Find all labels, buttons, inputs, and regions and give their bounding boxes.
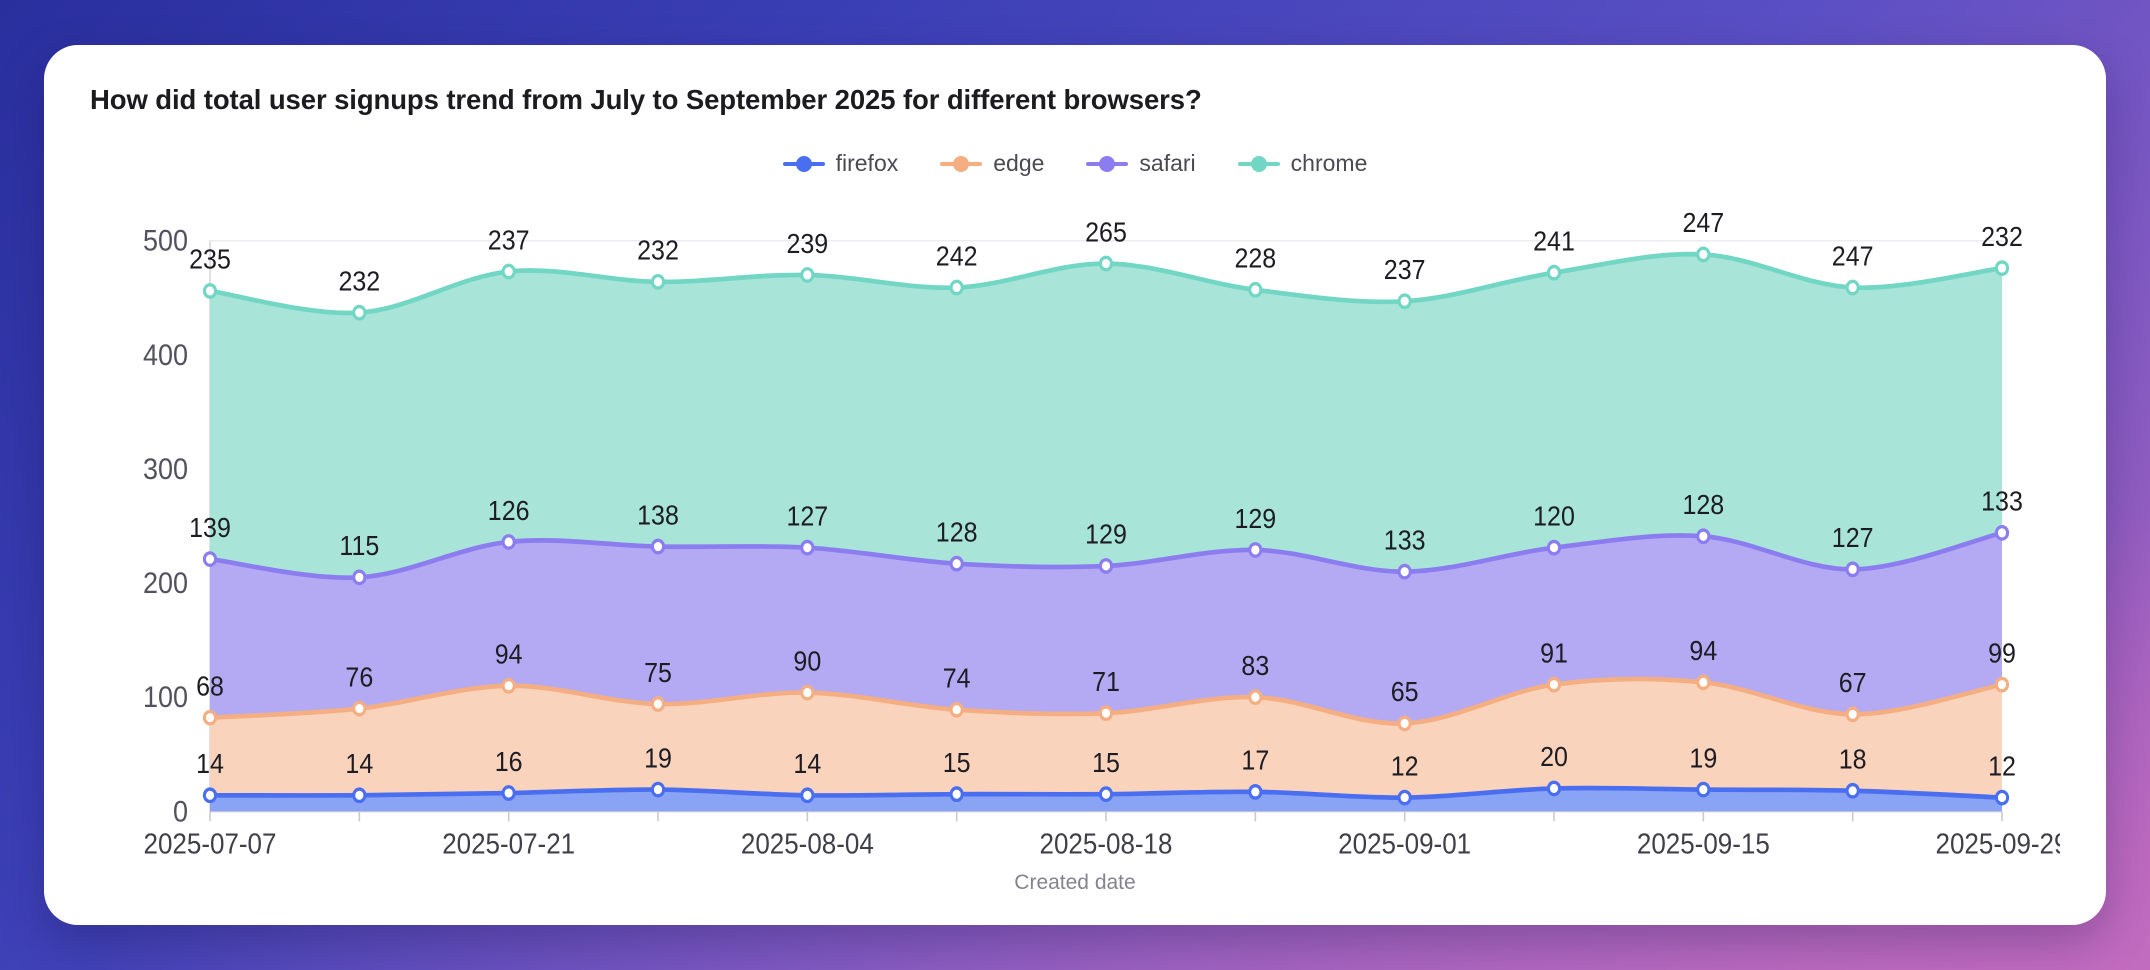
data-point-firefox[interactable] <box>1548 782 1559 794</box>
data-label-firefox: 14 <box>793 748 821 780</box>
data-label-firefox: 12 <box>1391 750 1419 782</box>
data-point-firefox[interactable] <box>802 789 813 801</box>
data-label-firefox: 15 <box>1092 747 1120 779</box>
data-label-safari: 115 <box>339 530 379 562</box>
legend-dot <box>953 156 969 172</box>
data-point-edge[interactable] <box>1698 676 1709 688</box>
data-point-chrome[interactable] <box>652 276 663 288</box>
data-point-firefox[interactable] <box>1399 791 1410 803</box>
data-point-edge[interactable] <box>652 698 663 710</box>
data-label-chrome: 237 <box>488 224 530 256</box>
legend-label-chrome: chrome <box>1291 150 1368 177</box>
line-dot-marker-icon <box>940 156 982 172</box>
line-dot-marker-icon <box>1238 156 1280 172</box>
data-label-chrome: 247 <box>1832 240 1874 272</box>
data-label-safari: 129 <box>1085 519 1127 551</box>
data-point-firefox[interactable] <box>1698 783 1709 795</box>
data-label-safari: 138 <box>637 499 679 531</box>
data-point-edge[interactable] <box>503 680 514 692</box>
data-point-edge[interactable] <box>1548 678 1559 690</box>
data-point-safari[interactable] <box>354 571 365 583</box>
data-point-firefox[interactable] <box>503 787 514 799</box>
data-label-chrome: 232 <box>637 234 679 266</box>
data-label-safari: 120 <box>1533 500 1575 532</box>
data-point-chrome[interactable] <box>802 269 813 281</box>
data-point-chrome[interactable] <box>1996 262 2007 274</box>
data-label-safari: 128 <box>1682 489 1724 521</box>
data-point-firefox[interactable] <box>354 789 365 801</box>
data-point-safari[interactable] <box>652 540 663 552</box>
legend-item-edge[interactable]: edge <box>940 150 1044 177</box>
data-label-chrome: 232 <box>1981 221 2023 253</box>
data-label-edge: 99 <box>1988 637 2016 669</box>
data-point-chrome[interactable] <box>1100 257 1111 269</box>
data-label-safari: 129 <box>1234 503 1276 535</box>
data-label-safari: 133 <box>1981 485 2023 517</box>
legend-label-safari: safari <box>1139 150 1195 177</box>
data-label-chrome: 247 <box>1682 207 1724 239</box>
data-label-chrome: 228 <box>1234 242 1276 274</box>
data-point-firefox[interactable] <box>1250 786 1261 798</box>
data-label-firefox: 18 <box>1839 743 1867 775</box>
data-point-safari[interactable] <box>1548 541 1559 553</box>
data-point-chrome[interactable] <box>354 306 365 318</box>
data-point-chrome[interactable] <box>1399 295 1410 307</box>
data-label-firefox: 19 <box>1689 742 1717 774</box>
data-point-firefox[interactable] <box>1847 785 1858 797</box>
data-label-safari: 128 <box>936 516 978 548</box>
data-point-safari[interactable] <box>503 536 514 548</box>
data-label-edge: 76 <box>345 661 373 693</box>
legend-dot <box>1251 156 1267 172</box>
y-axis-tick-label: 100 <box>143 681 188 715</box>
data-point-firefox[interactable] <box>204 789 215 801</box>
data-label-chrome: 242 <box>936 240 978 272</box>
data-point-chrome[interactable] <box>1847 281 1858 293</box>
x-axis-tick-label: 2025-08-18 <box>1040 827 1173 860</box>
data-label-firefox: 12 <box>1988 750 2016 782</box>
legend-label-firefox: firefox <box>836 150 899 177</box>
data-label-firefox: 20 <box>1540 741 1568 773</box>
data-label-chrome: 239 <box>786 228 828 260</box>
data-point-firefox[interactable] <box>951 788 962 800</box>
y-axis-tick-label: 400 <box>143 339 188 373</box>
data-point-edge[interactable] <box>1100 707 1111 719</box>
data-point-chrome[interactable] <box>1698 248 1709 260</box>
data-label-firefox: 15 <box>943 747 971 779</box>
x-axis-tick-label: 2025-09-15 <box>1637 827 1770 860</box>
data-point-safari[interactable] <box>1100 560 1111 572</box>
data-label-firefox: 14 <box>345 748 373 780</box>
x-axis-tick-label: 2025-09-01 <box>1338 827 1471 860</box>
line-dot-marker-icon <box>783 156 825 172</box>
page-title: How did total user signups trend from Ju… <box>90 83 2060 116</box>
legend-label-edge: edge <box>993 150 1044 177</box>
line-dot-marker-icon <box>1086 156 1128 172</box>
data-label-chrome: 241 <box>1533 225 1575 257</box>
x-axis-title: Created date <box>90 871 2060 899</box>
y-axis-tick-label: 500 <box>143 224 188 258</box>
data-label-edge: 68 <box>196 670 224 702</box>
data-label-safari: 139 <box>189 512 231 544</box>
data-point-chrome[interactable] <box>503 265 514 277</box>
data-point-safari[interactable] <box>1847 563 1858 575</box>
data-label-chrome: 265 <box>1085 216 1127 248</box>
data-point-firefox[interactable] <box>652 783 663 795</box>
x-axis-tick-label: 2025-08-04 <box>741 827 874 860</box>
data-point-chrome[interactable] <box>1250 284 1261 296</box>
data-label-chrome: 232 <box>338 265 380 297</box>
data-point-safari[interactable] <box>1399 565 1410 577</box>
data-point-safari[interactable] <box>802 541 813 553</box>
data-label-firefox: 19 <box>644 742 672 774</box>
data-point-chrome[interactable] <box>204 285 215 297</box>
legend-item-safari[interactable]: safari <box>1086 150 1195 177</box>
data-point-safari[interactable] <box>1698 530 1709 542</box>
stacked-area-chart[interactable]: 0100200300400500141416191415151712201918… <box>90 203 2060 869</box>
data-label-safari: 133 <box>1384 524 1426 556</box>
x-axis-tick-label: 2025-09-29 <box>1936 827 2060 860</box>
legend-item-firefox[interactable]: firefox <box>783 150 899 177</box>
data-point-edge[interactable] <box>204 711 215 723</box>
legend-dot <box>796 156 812 172</box>
data-point-edge[interactable] <box>1250 691 1261 703</box>
data-label-edge: 94 <box>495 638 523 670</box>
data-label-edge: 75 <box>644 657 672 689</box>
legend-dot <box>1099 156 1115 172</box>
data-label-chrome: 235 <box>189 244 231 276</box>
data-point-firefox[interactable] <box>1100 788 1111 800</box>
y-axis-tick-label: 200 <box>143 567 188 601</box>
data-label-safari: 126 <box>488 495 530 527</box>
data-point-safari[interactable] <box>1996 527 2007 539</box>
data-point-edge[interactable] <box>354 702 365 714</box>
data-label-edge: 74 <box>943 662 971 694</box>
data-label-edge: 91 <box>1540 637 1568 669</box>
data-point-safari[interactable] <box>951 557 962 569</box>
data-point-firefox[interactable] <box>1996 791 2007 803</box>
data-label-firefox: 16 <box>495 746 523 778</box>
data-label-safari: 127 <box>1832 522 1874 554</box>
data-point-edge[interactable] <box>1399 717 1410 729</box>
chart-legend: firefox edge safari chrome <box>90 150 2060 177</box>
data-point-edge[interactable] <box>1847 708 1858 720</box>
chart-card: How did total user signups trend from Ju… <box>44 45 2106 925</box>
data-label-edge: 94 <box>1689 635 1717 667</box>
y-axis-tick-label: 0 <box>173 795 188 829</box>
data-point-safari[interactable] <box>204 553 215 565</box>
data-point-edge[interactable] <box>951 704 962 716</box>
x-axis-tick-label: 2025-07-07 <box>144 827 277 860</box>
x-axis-tick-label: 2025-07-21 <box>442 827 575 860</box>
legend-item-chrome[interactable]: chrome <box>1238 150 1368 177</box>
data-label-edge: 67 <box>1839 667 1867 699</box>
data-point-chrome[interactable] <box>951 281 962 293</box>
data-point-chrome[interactable] <box>1548 266 1559 278</box>
data-label-chrome: 237 <box>1384 254 1426 286</box>
data-point-edge[interactable] <box>1996 678 2007 690</box>
data-label-firefox: 14 <box>196 748 224 780</box>
data-label-safari: 127 <box>786 500 828 532</box>
chart-plot-area: 0100200300400500141416191415151712201918… <box>90 203 2060 869</box>
data-label-firefox: 17 <box>1241 744 1269 776</box>
data-label-edge: 71 <box>1092 666 1120 698</box>
data-label-edge: 90 <box>793 645 821 677</box>
data-point-edge[interactable] <box>802 686 813 698</box>
data-point-safari[interactable] <box>1250 544 1261 556</box>
y-axis-tick-label: 300 <box>143 453 188 487</box>
data-label-edge: 83 <box>1241 650 1269 682</box>
data-label-edge: 65 <box>1391 676 1419 708</box>
